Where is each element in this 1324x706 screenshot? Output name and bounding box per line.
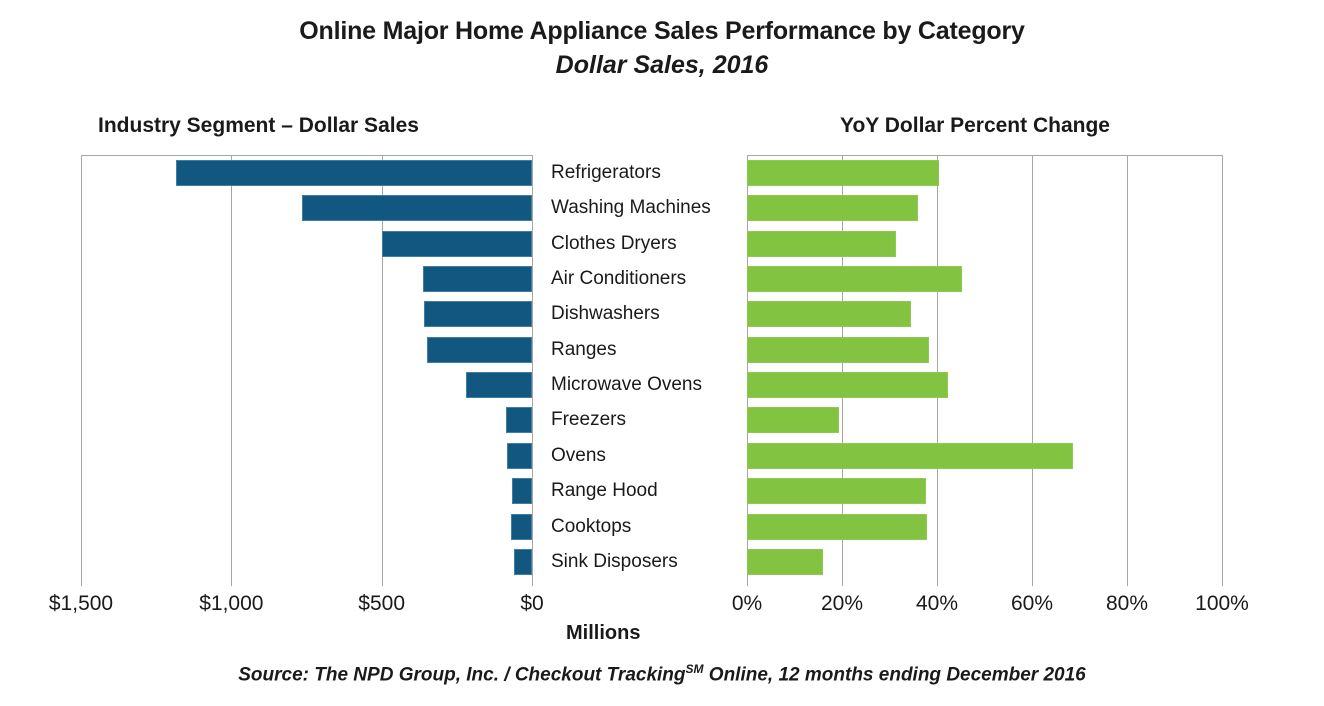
right-gridline bbox=[1032, 155, 1033, 586]
dollar-sales-bar bbox=[466, 372, 532, 398]
yoy-percent-bar bbox=[747, 372, 948, 398]
right-gridline bbox=[1127, 155, 1128, 586]
dollar-sales-bar bbox=[427, 337, 532, 363]
right-plot-top-rule bbox=[747, 155, 1222, 156]
category-label: Ranges bbox=[551, 337, 617, 363]
page-title: Online Major Home Appliance Sales Perfor… bbox=[0, 14, 1324, 48]
category-label: Sink Disposers bbox=[551, 549, 678, 575]
axis-units-label: Millions bbox=[566, 622, 640, 645]
left-axis-tick-label: $500 bbox=[358, 592, 405, 616]
left-axis-tick-label: $1,000 bbox=[199, 592, 263, 616]
dollar-sales-bar bbox=[507, 443, 532, 469]
category-label: Refrigerators bbox=[551, 160, 661, 186]
left-plot-top-rule bbox=[81, 155, 532, 156]
yoy-percent-bar bbox=[747, 443, 1073, 469]
yoy-percent-plot-area bbox=[747, 155, 1222, 586]
yoy-percent-bar bbox=[747, 478, 926, 504]
yoy-percent-bar bbox=[747, 301, 911, 327]
yoy-percent-bar bbox=[747, 337, 929, 363]
right-gridline bbox=[1222, 155, 1223, 586]
dollar-sales-bar bbox=[382, 231, 532, 257]
category-label: Range Hood bbox=[551, 478, 658, 504]
left-axis-tick-label: $0 bbox=[520, 592, 543, 616]
yoy-percent-bar bbox=[747, 160, 939, 186]
title-block: Online Major Home Appliance Sales Perfor… bbox=[0, 14, 1324, 82]
right-panel-header: YoY Dollar Percent Change bbox=[840, 114, 1110, 138]
yoy-percent-bar bbox=[747, 549, 823, 575]
dollar-sales-bar bbox=[176, 160, 532, 186]
yoy-percent-bar bbox=[747, 266, 962, 292]
source-note-text-after: Online, 12 months ending December 2016 bbox=[704, 664, 1086, 685]
category-label: Freezers bbox=[551, 407, 626, 433]
category-label: Clothes Dryers bbox=[551, 231, 677, 257]
right-axis-tick-label: 40% bbox=[916, 592, 958, 616]
dollar-sales-bar bbox=[511, 514, 532, 540]
dollar-sales-bar bbox=[423, 266, 532, 292]
page-subtitle: Dollar Sales, 2016 bbox=[0, 48, 1324, 82]
source-note-text-before: Source: The NPD Group, Inc. / Checkout T… bbox=[238, 664, 685, 685]
category-label: Microwave Ovens bbox=[551, 372, 702, 398]
category-label: Dishwashers bbox=[551, 301, 660, 327]
dollar-sales-bar bbox=[514, 549, 532, 575]
source-note-superscript: SM bbox=[686, 662, 704, 676]
source-note: Source: The NPD Group, Inc. / Checkout T… bbox=[0, 662, 1324, 686]
right-axis-tick-label: 60% bbox=[1011, 592, 1053, 616]
category-label: Washing Machines bbox=[551, 195, 711, 221]
right-axis-tick-label: 20% bbox=[821, 592, 863, 616]
category-label-column: RefrigeratorsWashing MachinesClothes Dry… bbox=[551, 155, 741, 586]
category-label: Ovens bbox=[551, 443, 606, 469]
yoy-percent-bar bbox=[747, 514, 927, 540]
category-label: Air Conditioners bbox=[551, 266, 686, 292]
dollar-sales-bar bbox=[302, 195, 532, 221]
left-gridline bbox=[231, 155, 232, 586]
right-gridline bbox=[937, 155, 938, 586]
dollar-sales-bar bbox=[506, 407, 532, 433]
right-axis-tick-label: 0% bbox=[732, 592, 762, 616]
yoy-percent-bar bbox=[747, 231, 896, 257]
right-axis-tick-label: 100% bbox=[1195, 592, 1249, 616]
right-axis-tick-label: 80% bbox=[1106, 592, 1148, 616]
left-axis-ticks: $1,500$1,000$500$0 bbox=[81, 592, 532, 622]
left-panel-header: Industry Segment – Dollar Sales bbox=[98, 114, 419, 138]
yoy-percent-bar bbox=[747, 195, 918, 221]
yoy-percent-bar bbox=[747, 407, 839, 433]
category-label: Cooktops bbox=[551, 514, 631, 540]
dollar-sales-bar bbox=[512, 478, 532, 504]
left-axis-tick-label: $1,500 bbox=[49, 592, 113, 616]
left-gridline bbox=[81, 155, 82, 586]
dollar-sales-plot-area bbox=[81, 155, 532, 586]
right-axis-ticks: 0%20%40%60%80%100% bbox=[747, 592, 1222, 622]
dollar-sales-bar bbox=[424, 301, 532, 327]
left-gridline bbox=[532, 155, 533, 586]
